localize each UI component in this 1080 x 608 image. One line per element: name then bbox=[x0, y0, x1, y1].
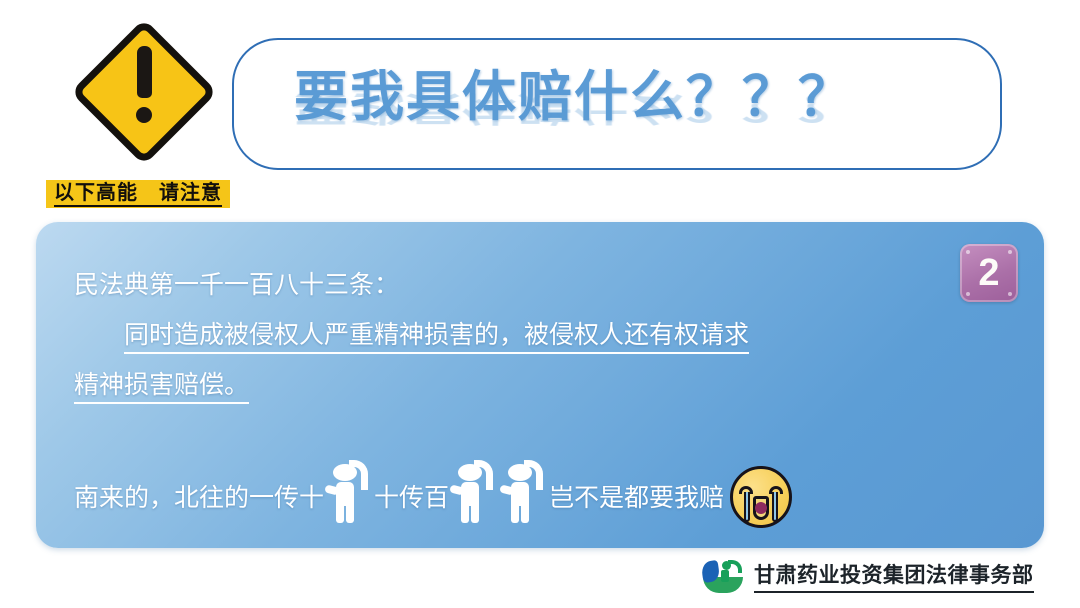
law-line-text: 民法典第一千一百八十三条： bbox=[74, 271, 399, 299]
organization-name: 甘肃药业投资集团法律事务部 bbox=[754, 559, 1034, 593]
exclamation-dot bbox=[136, 107, 152, 123]
title-pill-frame: 要我具体赔什么？？？ 要我具体赔什么？？？ bbox=[232, 38, 1002, 170]
law-line-text: 同时造成被侵权人严重精神损害的，被侵权人还有权请求 bbox=[124, 321, 749, 354]
waving-person-icon bbox=[500, 460, 548, 524]
exclamation-bar bbox=[137, 46, 152, 98]
law-line: 精神损害赔偿。 bbox=[74, 360, 1004, 410]
warning-caption-label: 以下高能 请注意 bbox=[54, 182, 222, 207]
law-line: 同时造成被侵权人严重精神损害的，被侵权人还有权请求 bbox=[74, 310, 1004, 360]
slide-canvas: 以下高能 请注意 要我具体赔什么？？？ 要我具体赔什么？？？ 2 民法典第一千一… bbox=[0, 0, 1080, 608]
waving-person-icon bbox=[325, 460, 373, 524]
commentary-segment-3: 岂不是都要我赔 bbox=[549, 476, 724, 520]
page-title-reflection: 要我具体赔什么？？？ bbox=[294, 87, 854, 136]
commentary-row: 南来的，北往的一传十 十传百 岂不是都要我赔 bbox=[74, 460, 792, 520]
waving-person-icon bbox=[450, 460, 498, 524]
warning-caption: 以下高能 请注意 bbox=[46, 180, 230, 208]
commentary-segment-1: 南来的，北往的一传十 bbox=[74, 476, 324, 520]
exclamation-warning-sign bbox=[68, 16, 220, 168]
exclamation-mark-glyph bbox=[137, 46, 152, 123]
footer-branding: 甘肃药业投资集团法律事务部 bbox=[700, 558, 1034, 594]
loudly-crying-face-emoji bbox=[730, 466, 792, 528]
law-article-text: 民法典第一千一百八十三条： 同时造成被侵权人严重精神损害的，被侵权人还有权请求 … bbox=[74, 260, 1004, 410]
commentary-segment-2: 十传百 bbox=[374, 476, 449, 520]
law-line-text: 精神损害赔偿。 bbox=[74, 371, 249, 404]
law-line: 民法典第一千一百八十三条： bbox=[74, 260, 1004, 310]
content-panel: 2 民法典第一千一百八十三条： 同时造成被侵权人严重精神损害的，被侵权人还有权请… bbox=[36, 222, 1044, 548]
company-leaf-logo-icon bbox=[700, 558, 746, 594]
